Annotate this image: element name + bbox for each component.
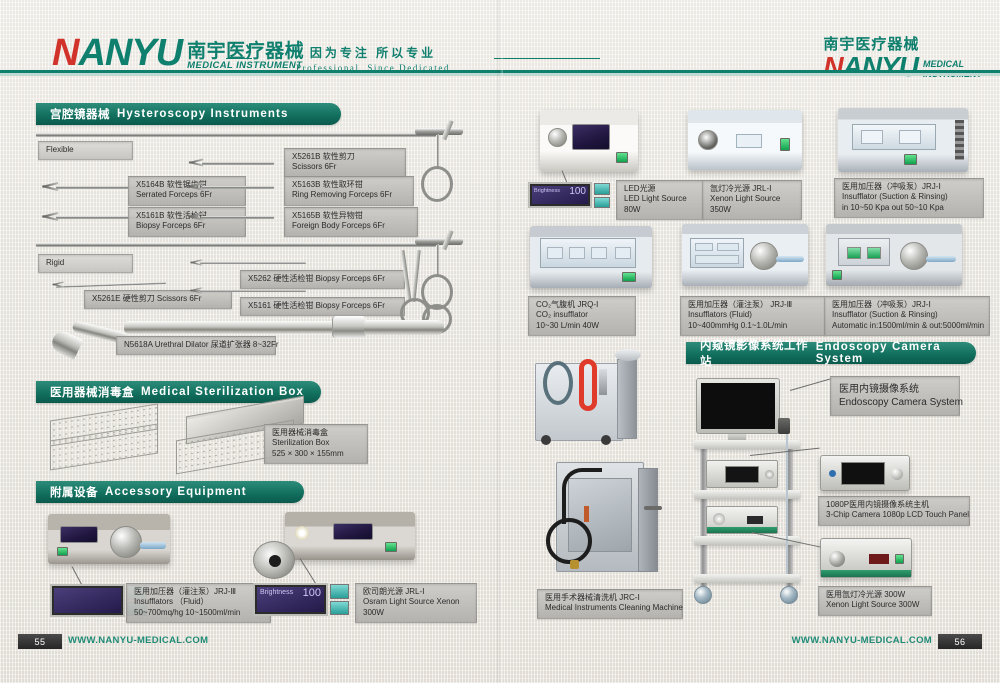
vent-grille	[955, 120, 964, 160]
light-port	[698, 130, 718, 150]
sterilization-box-label: 医用器械消毒盒 Sterilization Box 525 × 300 × 15…	[264, 424, 368, 464]
page-footer: 55 WWW.NANYU-MEDICAL.COM WWW.NANYU-MEDIC…	[0, 634, 1000, 656]
camera-label-ccu: 1080P医用内镜摄像系统主机 3-Chip Camera 1080p LCD …	[818, 496, 970, 526]
xenon-light-source-photo	[820, 538, 912, 578]
label-en: 3-Chip Camera 1080p LCD Touch Panel	[826, 510, 963, 520]
label-cn: CO₂气腹机 JRQ-Ⅰ	[536, 300, 629, 310]
label-cn: 氙灯冷光源 JRL-Ⅰ	[710, 184, 795, 194]
control-panel	[540, 238, 636, 268]
slogan-block: 因为专注 所以专业 Professional, Since Dedicated	[258, 44, 488, 73]
label-en: Xenon Light Source	[710, 194, 795, 204]
banner-cn: 宫腔镜器械	[50, 106, 110, 122]
label-en: Endoscopy Camera System	[839, 396, 951, 409]
flexible-scope-shaft-bottom	[36, 243, 436, 247]
rigid-forceps-handle	[398, 250, 468, 360]
instrument-label-x5261b: X5261B 软性剪刀 Scissors 6Fr	[284, 148, 406, 178]
power-indicator	[904, 154, 917, 165]
caster-icon	[541, 435, 551, 445]
page-number-right: 56	[938, 634, 982, 649]
label-cn: 欧司朗光源 JRL-Ⅰ	[363, 587, 470, 597]
monitor	[696, 378, 780, 434]
cart-caster-right	[780, 586, 798, 604]
banner-cn: 内窥镜影像系统工作站	[700, 337, 809, 369]
page-number-left: 55	[18, 634, 62, 649]
camera-head	[778, 418, 790, 434]
instrument-shaft-5	[202, 216, 274, 219]
device-label-cleaning-machine: 医用手术器械清洗机 JRC-Ⅰ Medical Instruments Clea…	[537, 589, 683, 619]
section-banner-accessory: 附属设备 Accessory Equipment	[36, 481, 304, 503]
label-cn: 1080P医用内镜摄像系统主机	[826, 500, 963, 510]
cart-caster-left	[694, 586, 712, 604]
device-led-light-source	[540, 110, 638, 172]
page-header: NANYU 南宇医疗器械 MEDICAL INSTRUMENT 因为专注 所以专…	[0, 0, 1000, 82]
rigid-jaw-1	[52, 281, 63, 287]
label-cn: X5163B 软性取环钳	[292, 180, 407, 190]
basin	[615, 349, 641, 361]
group-label-rigid-text: Rigid	[46, 258, 126, 268]
label-en: Ring Removing Forceps 6Fr	[292, 190, 407, 200]
detail-display-1	[50, 584, 125, 617]
tubing	[776, 256, 804, 262]
label-cn: 医用加压器（冲吸泵）JRJ-Ⅰ	[832, 300, 983, 310]
label-cn: 医用器械消毒盒	[272, 428, 361, 438]
label-cn: 医用氙灯冷光源 300W	[826, 590, 925, 600]
slogan-rule-left	[226, 58, 252, 59]
instrument-label-x5165b: X5165B 软性异物钳 Foreign Body Forceps 6Fr	[284, 207, 418, 237]
flexible-scope-shaft-top	[36, 133, 436, 137]
power-indicator	[832, 270, 842, 280]
label-en: Medical Instruments Cleaning Machine	[545, 603, 676, 613]
power-indicator	[780, 138, 790, 151]
detail-buttons-2[interactable]	[330, 584, 349, 615]
label-cn: X5165B 软性异物钳	[292, 211, 411, 221]
light-cable-connector	[253, 541, 295, 579]
cart-shelf-2	[694, 490, 800, 499]
rigid-shaft-1	[56, 282, 166, 288]
instrument-label-x5262: X5262 硬性活检钳 Biopsy Forceps 6Fr	[240, 270, 405, 289]
instrument-label-x5163b: X5163B 软性取环钳 Ring Removing Forceps 6Fr	[284, 176, 414, 206]
label-en: Insufflators (Fluid)	[688, 310, 819, 320]
label-spec: 80W	[624, 205, 697, 215]
device-label-xenon: 氙灯冷光源 JRL-Ⅰ Xenon Light Source 350W	[702, 180, 802, 220]
power-indicator	[622, 272, 636, 282]
page-spine	[497, 0, 503, 683]
label-en: Insufflators （Fluid）	[134, 597, 264, 607]
pump-rotor	[900, 242, 928, 270]
instrument-label-x5164b: X5164B 软性锯齿钳 Serrated Forceps 6Fr	[128, 176, 246, 206]
power-indicator	[385, 542, 397, 552]
banner-en: Endoscopy Camera System	[816, 341, 976, 365]
rigid-shaft-3	[200, 290, 306, 292]
hose-black	[562, 468, 602, 524]
rigid-jaw-2	[190, 259, 202, 265]
cart-shelf-1	[694, 440, 800, 449]
flexible-scope-handle-top	[415, 120, 475, 220]
pump-rotor	[750, 242, 778, 270]
device-insufflator-suction-2	[826, 224, 962, 286]
label-spec: Automatic in:1500ml/min & out:5000ml/min	[832, 321, 983, 331]
label-line: X5261E 硬性剪刀 Scissors 6Fr	[92, 294, 225, 304]
brightness-value: 100	[569, 188, 586, 195]
accessory-label-osram: 欧司朗光源 JRL-Ⅰ Osram Light Source Xenon 300…	[355, 583, 477, 623]
label-cn: 医用加压器（冲吸泵）JRJ-Ⅰ	[842, 182, 977, 192]
device-co2-insufflator	[530, 226, 652, 288]
pump-rotor	[110, 526, 142, 558]
group-label-flexible-text: Flexible	[46, 145, 126, 155]
power-indicator	[57, 547, 68, 556]
banner-en: Medical Sterilization Box	[141, 386, 304, 398]
light-port	[295, 526, 309, 540]
instrument-shaft-3	[202, 162, 274, 165]
rigid-shaft-2	[200, 262, 306, 264]
banner-cn: 医用器械消毒盒	[50, 384, 134, 400]
device-insufflator-fluid	[48, 514, 170, 564]
label-en: Insufflator (Suction & Rinsing)	[842, 192, 977, 202]
tubing	[140, 542, 166, 549]
instrument-shaft-4	[202, 186, 274, 189]
hose-red	[579, 359, 597, 411]
group-label-flexible: Flexible	[38, 141, 133, 160]
label-spec: 300W	[363, 608, 470, 618]
label-size: 525 × 300 × 155mm	[272, 449, 361, 459]
cart-shelf-3	[694, 536, 800, 545]
instrument-label-n5618a: N5618A Urethral Dilator 尿道扩张器 8~32Fr	[116, 336, 276, 355]
label-cn: 医用手术器械清洗机 JRC-Ⅰ	[545, 593, 676, 603]
hose-teal	[543, 361, 573, 405]
banner-en: Accessory Equipment	[105, 486, 247, 498]
camera-control-unit-photo	[820, 455, 910, 491]
label-en: Foreign Body Forceps 6Fr	[292, 221, 411, 231]
device-label-co2: CO₂气腹机 JRQ-Ⅰ CO₂ insufflator 10~30 L/min…	[528, 296, 636, 336]
rigid-jaw-3	[190, 287, 202, 293]
label-en: CO₂ insufflator	[536, 310, 629, 320]
device-insufflator-fluid-2	[682, 224, 808, 286]
cleaning-machine-top	[535, 355, 640, 447]
caster-icon	[601, 435, 611, 445]
brightness-value: 100	[303, 589, 321, 598]
label-en: Biopsy Forceps 6Fr	[136, 221, 239, 231]
label-en: Insufflator (Suction & Rinsing)	[832, 310, 983, 320]
control-panel	[852, 124, 936, 150]
device-screen	[572, 124, 610, 150]
label-cn: 医用加压器（灌注泵）JRJ-Ⅲ	[134, 587, 264, 597]
spray-gun	[599, 369, 607, 395]
led-detail-buttons[interactable]	[594, 183, 610, 208]
camera-label-xenon: 医用氙灯冷光源 300W Xenon Light Source 300W	[818, 586, 932, 616]
label-en: Serrated Forceps 6Fr	[136, 190, 239, 200]
hose-black-coil	[546, 518, 592, 564]
label-en: Xenon Light Source 300W	[826, 600, 925, 610]
banner-cn: 附属设备	[50, 484, 98, 500]
section-banner-hysteroscopy: 宫腔镜器械 Hysteroscopy Instruments	[36, 103, 341, 125]
accessory-label-insufflator: 医用加压器（灌注泵）JRJ-Ⅲ Insufflators （Fluid） 50~…	[126, 583, 271, 623]
control-panel	[838, 238, 890, 266]
cleaning-machine-bottom	[548, 462, 666, 580]
device-osram-light-source	[285, 512, 415, 560]
label-cn: 医用内镜摄像系统	[839, 383, 951, 396]
device-xenon-light-source	[688, 110, 802, 170]
footer-url-left[interactable]: WWW.NANYU-MEDICAL.COM	[68, 635, 208, 646]
label-spec: 10~30 L/min 40W	[536, 321, 629, 331]
hose-fitting	[570, 560, 579, 569]
detail-display-2: Brightness 100	[253, 583, 328, 616]
brightness-label: Brightness	[534, 188, 560, 194]
label-en: Sterilization Box	[272, 438, 361, 448]
label-cn: X5261B 软性剪刀	[292, 152, 399, 162]
endoscopy-cart	[694, 378, 810, 610]
label-en: Scissors 6Fr	[292, 162, 399, 172]
scope-cable	[786, 434, 788, 574]
device-label-insufflator-suction-2: 医用加压器（冲吸泵）JRJ-Ⅰ Insufflator (Suction & R…	[824, 296, 990, 336]
section-banner-camera-system: 内窥镜影像系统工作站 Endoscopy Camera System	[686, 342, 976, 364]
device-label-insufflator-fluid-2: 医用加压器（灌注泵） JRJ-Ⅲ Insufflators (Fluid) 10…	[680, 296, 826, 336]
cart-shelf-4	[694, 574, 800, 583]
label-spec: 50~700mq/hg 10~1500ml/min	[134, 608, 264, 618]
control-panel	[690, 238, 744, 268]
device-insufflator-suction-1	[838, 108, 968, 172]
label-line: N5618A Urethral Dilator 尿道扩张器 8~32Fr	[124, 340, 269, 350]
power-indicator	[616, 152, 628, 163]
rotary-knob	[548, 128, 567, 147]
lever[interactable]	[644, 506, 662, 510]
catalog-page: NANYU 南宇医疗器械 MEDICAL INSTRUMENT 因为专注 所以专…	[0, 0, 1000, 683]
logo-right-en-1: MEDICAL	[923, 59, 982, 69]
device-label-led: LED光源 LED Light Source 80W	[616, 180, 704, 220]
footer-url-right[interactable]: WWW.NANYU-MEDICAL.COM	[792, 635, 932, 646]
brightness-label: Brightness	[260, 589, 293, 596]
header-rule	[0, 70, 1000, 76]
label-spec: in 10~50 Kpa out 50~10 Kpa	[842, 203, 977, 213]
light-source-unit	[706, 506, 778, 534]
device-screen	[60, 526, 98, 543]
camera-label-system: 医用内镜摄像系统 Endoscopy Camera System	[830, 376, 960, 416]
instrument-label-x5161b: X5161B 软性活检钳 Biopsy Forceps 6Fr	[128, 207, 246, 237]
sterilization-box-closed	[46, 412, 161, 470]
label-spec: 350W	[710, 205, 795, 215]
banner-en: Hysteroscopy Instruments	[117, 108, 288, 120]
group-label-rigid: Rigid	[38, 254, 133, 273]
slogan-chinese: 因为专注 所以专业	[258, 44, 488, 61]
camera-control-unit	[706, 460, 778, 488]
device-label-insufflator-suction-1: 医用加压器（冲吸泵）JRJ-Ⅰ Insufflator (Suction & R…	[834, 178, 984, 218]
tubing	[926, 256, 956, 262]
logo-wordmark: NANYU	[52, 36, 182, 71]
label-line: X5262 硬性活检钳 Biopsy Forceps 6Fr	[248, 274, 398, 284]
device-screen	[333, 523, 373, 540]
label-spec: 10~400mmHg 0.1~1.0L/min	[688, 321, 819, 331]
label-en: Osram Light Source Xenon	[363, 597, 470, 607]
control-panel	[736, 134, 762, 148]
led-detail-display: Brightness 100	[528, 182, 592, 208]
label-cn: 医用加压器（灌注泵） JRJ-Ⅲ	[688, 300, 819, 310]
label-en: LED Light Source	[624, 194, 697, 204]
label-cn: LED光源	[624, 184, 697, 194]
slogan-rule-right	[494, 58, 600, 59]
